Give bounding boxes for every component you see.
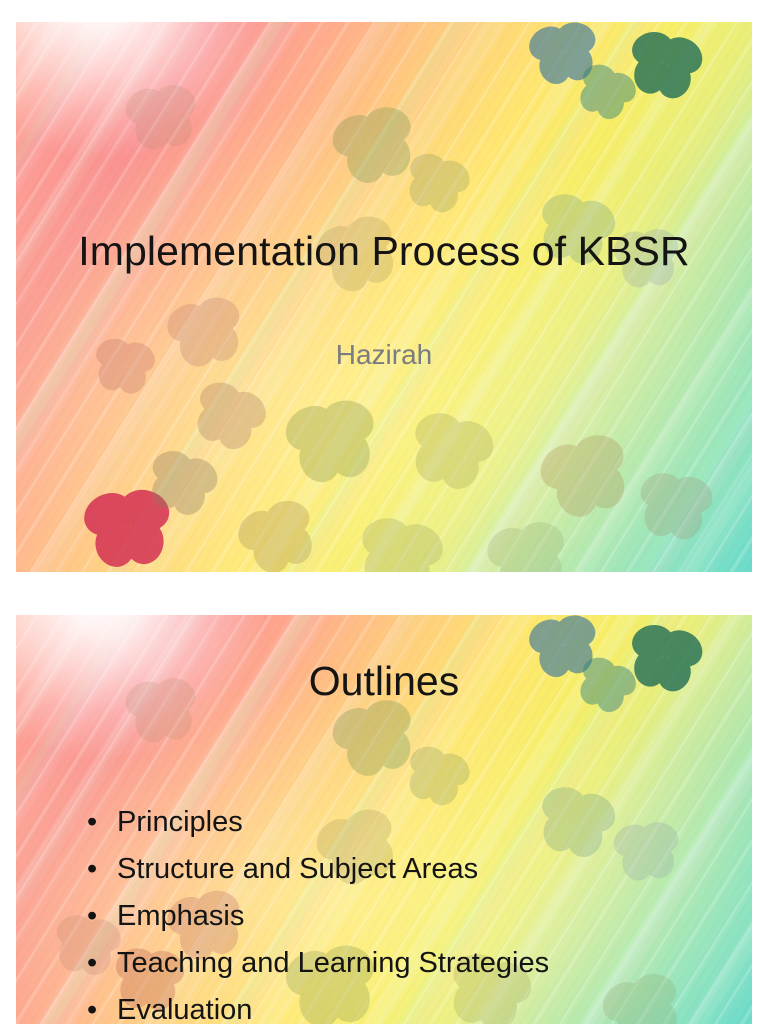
- outline-bullet-item: •Evaluation: [86, 987, 728, 1024]
- slide-title: Implementation Process of KBSR Hazirah: [16, 22, 752, 572]
- outline-bullet-item: •Principles: [86, 799, 728, 846]
- outline-bullet-item: •Teaching and Learning Strategies: [86, 940, 728, 987]
- butterfly-icon: [120, 79, 204, 155]
- butterfly-icon: [183, 372, 276, 459]
- outline-bullet-label: Teaching and Learning Strategies: [117, 947, 549, 979]
- butterfly-icon: [349, 510, 451, 572]
- butterfly-layer: [16, 22, 752, 572]
- butterfly-icon: [530, 424, 642, 529]
- outline-bullet-label: Structure and Subject Areas: [117, 853, 478, 885]
- slide-title-text: Implementation Process of KBSR: [16, 228, 752, 275]
- outline-bullet-label: Evaluation: [117, 994, 252, 1024]
- slide-deck: Implementation Process of KBSR Hazirah: [0, 0, 768, 1024]
- butterfly-icon: [278, 392, 387, 489]
- slide-subtitle-text: Hazirah: [16, 338, 752, 372]
- slide-outlines: Outlines •Principles•Structure and Subje…: [16, 615, 752, 1024]
- outline-bullet-label: Principles: [117, 806, 243, 838]
- outline-bullet-label: Emphasis: [117, 900, 244, 932]
- butterfly-icon: [479, 514, 576, 572]
- bullet-marker-icon: •: [87, 893, 97, 940]
- bullet-marker-icon: •: [87, 987, 97, 1024]
- butterfly-icon: [228, 490, 328, 572]
- outlines-title-text: Outlines: [16, 658, 752, 705]
- butterfly-icon: [632, 467, 719, 545]
- outlines-bullet-list: •Principles•Structure and Subject Areas•…: [86, 799, 728, 1024]
- bullet-marker-icon: •: [87, 799, 97, 846]
- bullet-marker-icon: •: [87, 940, 97, 987]
- bullet-marker-icon: •: [87, 846, 97, 893]
- butterfly-icon: [399, 404, 502, 499]
- outline-bullet-item: •Structure and Subject Areas: [86, 846, 728, 893]
- outline-bullet-item: •Emphasis: [86, 893, 728, 940]
